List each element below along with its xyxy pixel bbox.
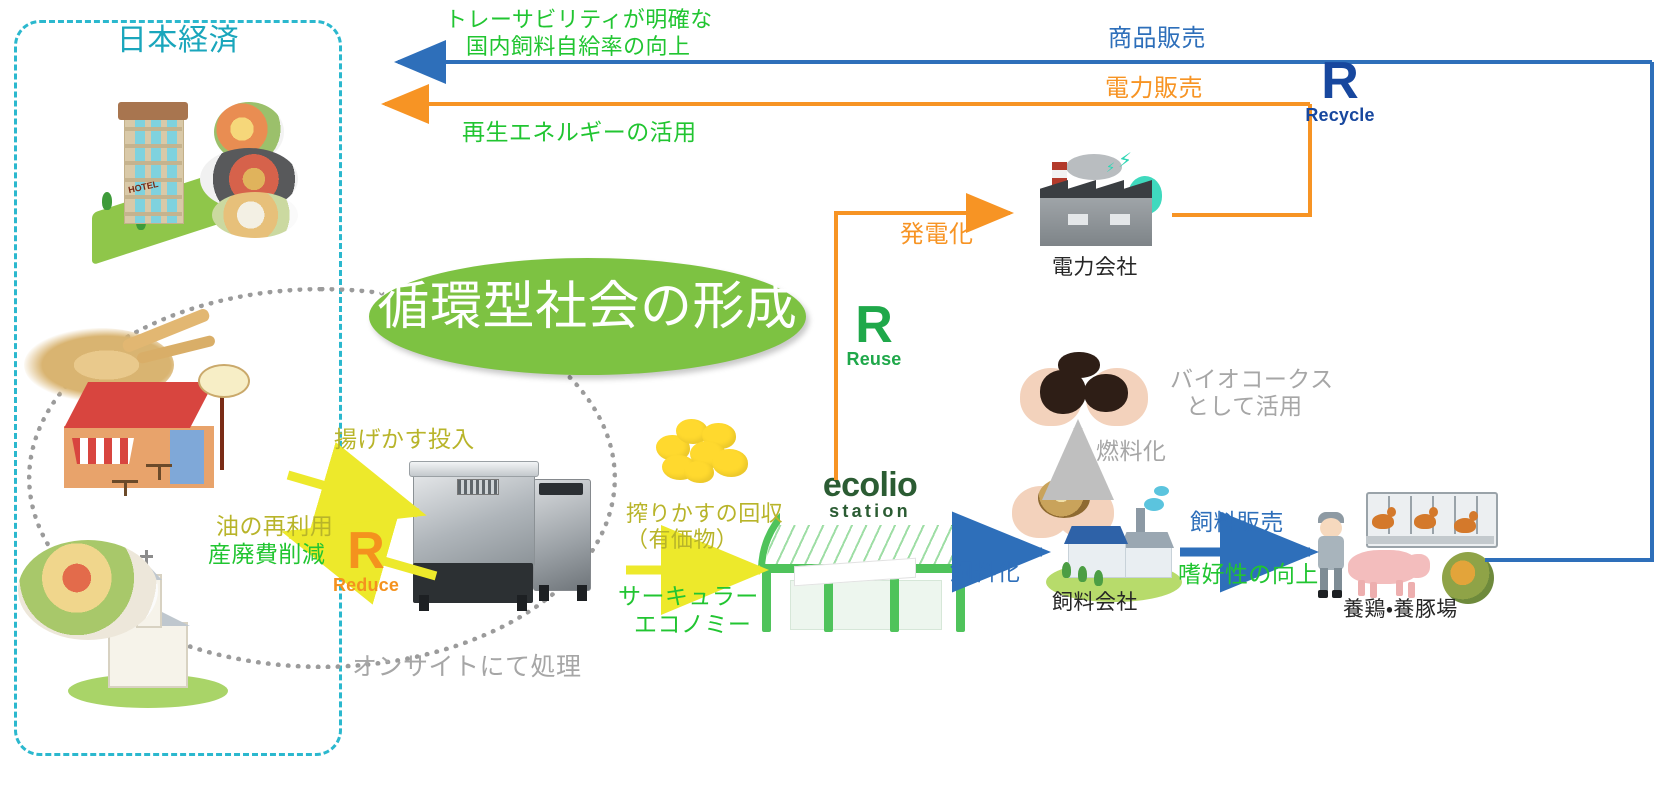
oil-press-machine-illustration bbox=[405, 455, 605, 615]
circular-society-title: 循環型社会の形成 bbox=[369, 275, 806, 340]
reuse-r-icon: R bbox=[840, 302, 908, 349]
product-sales-label: 商品販売 bbox=[1108, 24, 1206, 54]
power-sales-return-path bbox=[1172, 104, 1310, 215]
residue-recovery-label: 搾りかすの回収 bbox=[626, 500, 783, 528]
power-company-label: 電力会社 bbox=[1052, 255, 1138, 281]
traceability-label-line2: 国内飼料自給率の向上 bbox=[466, 33, 690, 61]
renewable-energy-label: 再生エネルギーの活用 bbox=[462, 118, 697, 147]
power-plant-illustration: ⚡ ⚡ bbox=[1022, 150, 1172, 258]
cuisine-photo-bottom bbox=[18, 540, 168, 650]
poultry-pig-farm-illustration bbox=[1304, 492, 1500, 604]
cuisine-photo-top bbox=[196, 100, 306, 240]
waste-cost-reduction-label: 産廃費削減 bbox=[208, 540, 325, 569]
reduce-badge-label: Reduce bbox=[332, 575, 400, 596]
residue-recovery-sublabel: （有価物） bbox=[626, 526, 738, 554]
onsite-processing-label: オンサイトにて処理 bbox=[352, 652, 582, 683]
recycle-badge-label: Recycle bbox=[1300, 105, 1380, 126]
reduce-r-icon: R bbox=[332, 528, 400, 575]
ecolio-station-logo: ecolio station bbox=[780, 466, 960, 525]
oil-reuse-label: 油の再利用 bbox=[216, 512, 333, 541]
diagram-canvas: 日本経済 オンサイトにて処理 循環型社会の形成 HOTEL bbox=[0, 0, 1659, 801]
restaurant-shop-illustration bbox=[50, 360, 240, 510]
fry-waste-input-label: 揚げかす投入 bbox=[334, 425, 475, 454]
station-wordmark: station bbox=[780, 502, 960, 522]
reduce-badge: R Reduce bbox=[332, 528, 400, 596]
biocoke-label-line1: バイオコークス bbox=[1170, 365, 1334, 394]
feed-company-label: 飼料会社 bbox=[1052, 590, 1138, 616]
circular-economy-label-line2: エコノミー bbox=[634, 610, 751, 639]
circular-economy-label-line1: サーキュラー bbox=[618, 582, 759, 611]
reuse-badge-label: Reuse bbox=[840, 349, 908, 370]
feed-sales-label: 飼料販売 bbox=[1190, 508, 1284, 537]
product-sales-return-path bbox=[1485, 62, 1652, 560]
japan-economy-label: 日本経済 bbox=[14, 22, 342, 60]
palatability-label: 嗜好性の向上 bbox=[1178, 560, 1319, 589]
fuel-conversion-label: 燃料化 bbox=[1096, 437, 1166, 466]
power-sales-label: 電力販売 bbox=[1105, 74, 1203, 104]
power-generation-label: 発電化 bbox=[900, 220, 973, 250]
feed-conversion-label: 飼料化 bbox=[950, 558, 1020, 587]
biocoke-photo bbox=[1014, 340, 1159, 440]
recycle-badge: R Recycle bbox=[1300, 58, 1380, 126]
pressed-residue-illustration bbox=[650, 415, 760, 485]
biocoke-label-line2: として活用 bbox=[1186, 392, 1303, 421]
reuse-badge: R Reuse bbox=[840, 302, 908, 370]
farm-label: 養鶏・養豚場 bbox=[1343, 597, 1458, 623]
recycle-r-icon: R bbox=[1300, 58, 1380, 105]
feed-company-illustration bbox=[1044, 500, 1184, 604]
traceability-label-line1: トレーサビリティが明確な bbox=[445, 6, 713, 34]
ecolio-wordmark: ecolio bbox=[780, 468, 960, 502]
